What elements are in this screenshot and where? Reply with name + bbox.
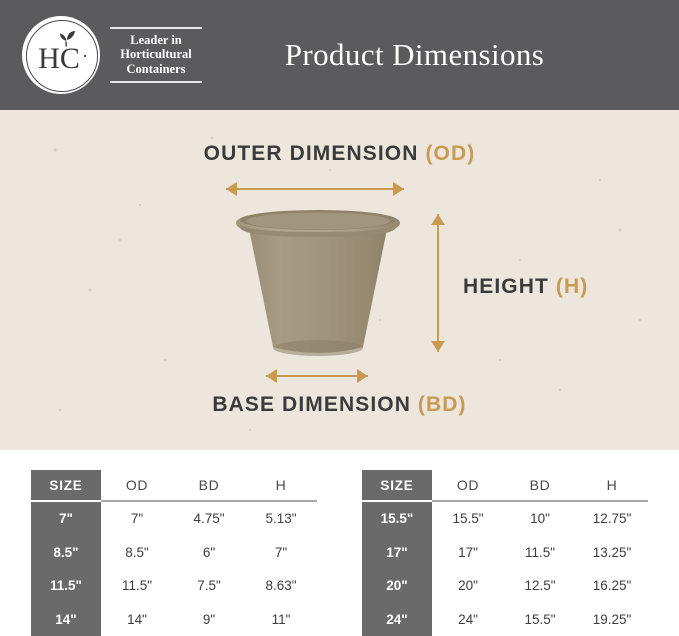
column-header-size: SIZE [362,470,432,500]
dimension-diagram: OUTER DIMENSION (OD) [0,110,679,450]
double-arrow-horizontal-icon-bd [266,369,368,383]
header-bar: Product Dimensions HC Leader in [0,0,679,110]
cell-size: 15.5" [362,502,432,536]
table-row: 17" 17" 11.5" 13.25" [362,536,648,570]
cell-h: 13.25" [576,536,648,570]
table-row: 11.5" 11.5" 7.5" 8.63" [31,569,317,603]
arrow-head-down [431,341,445,352]
table-row: 14" 14" 9" 11" [31,603,317,636]
arrow-shaft [437,214,439,352]
cell-h: 12.75" [576,502,648,536]
dimension-table-large: SIZE OD BD H 15.5" 15.5" 10" 12.75" [362,470,648,636]
cell-bd: 11.5" [504,536,576,570]
arrow-shaft [226,188,404,190]
column-header-h: H [576,470,648,500]
table-row: 24" 24" 15.5" 19.25" [362,603,648,636]
cell-size: 24" [362,603,432,636]
cell-h: 8.63" [245,569,317,603]
table-row: 8.5" 8.5" 6" 7" [31,536,317,570]
tagline-line-2: Horticultural [110,47,202,62]
arrow-head-right [393,182,404,196]
cell-size: 7" [31,502,101,536]
cell-size: 8.5" [31,536,101,570]
cell-h: 16.25" [576,569,648,603]
cell-bd: 15.5" [504,603,576,636]
column-header-od: OD [432,470,504,500]
dimension-table-small: SIZE OD BD H 7" 7" 4.75" 5.13" [31,470,317,636]
brand-tagline: Leader in Horticultural Containers [110,23,202,86]
column-header-bd: BD [504,470,576,500]
outer-dimension-tag: (OD) [425,142,475,165]
tagline-line-3: Containers [110,62,202,77]
cell-h: 19.25" [576,603,648,636]
cell-bd: 12.5" [504,569,576,603]
outer-dimension-label: OUTER DIMENSION (OD) [0,142,679,166]
cell-h: 5.13" [245,502,317,536]
column-header-od: OD [101,470,173,500]
table-row: 20" 20" 12.5" 16.25" [362,569,648,603]
base-dimension-tag: (BD) [418,393,467,416]
table-row: 15.5" 15.5" 10" 12.75" [362,502,648,536]
svg-text:HC: HC [38,42,80,75]
column-header-size: SIZE [31,470,101,500]
double-arrow-horizontal-icon-od [226,182,404,196]
arrow-shaft [266,375,368,377]
tagline-rule-bottom [110,81,202,82]
hc-circle-logo-icon: HC [22,16,100,94]
cell-od: 20" [432,569,504,603]
table-header-row: SIZE OD BD H [362,470,648,500]
cell-size: 14" [31,603,101,636]
cell-size: 17" [362,536,432,570]
height-text: HEIGHT [463,275,556,298]
base-dimension-text: BASE DIMENSION [212,393,418,416]
cell-od: 14" [101,603,173,636]
height-tag: (H) [556,275,588,298]
cell-od: 11.5" [101,569,173,603]
cell-od: 7" [101,502,173,536]
height-label: HEIGHT (H) [463,275,588,299]
table-header-row: SIZE OD BD H [31,470,317,500]
cell-bd: 10" [504,502,576,536]
cell-h: 7" [245,536,317,570]
table-row: 7" 7" 4.75" 5.13" [31,502,317,536]
dimension-tables: SIZE OD BD H 7" 7" 4.75" 5.13" [0,470,679,636]
cell-h: 11" [245,603,317,636]
product-dimensions-infographic: Product Dimensions HC Leader in [0,0,679,636]
cell-size: 20" [362,569,432,603]
outer-dimension-text: OUTER DIMENSION [204,142,426,165]
planter-pot-illustration [228,205,408,370]
cell-od: 17" [432,536,504,570]
arrow-head-right [357,369,368,383]
cell-bd: 9" [173,603,245,636]
cell-od: 8.5" [101,536,173,570]
cell-bd: 4.75" [173,502,245,536]
column-header-h: H [245,470,317,500]
cell-od: 24" [432,603,504,636]
cell-bd: 6" [173,536,245,570]
column-header-bd: BD [173,470,245,500]
cell-size: 11.5" [31,569,101,603]
cell-bd: 7.5" [173,569,245,603]
tagline-line-1: Leader in [110,33,202,48]
double-arrow-vertical-icon-h [431,214,445,352]
brand-lockup: HC Leader in Horticultural Containers [22,16,202,94]
logo-monogram: HC [26,20,96,90]
cell-od: 15.5" [432,502,504,536]
base-dimension-label: BASE DIMENSION (BD) [0,393,679,417]
